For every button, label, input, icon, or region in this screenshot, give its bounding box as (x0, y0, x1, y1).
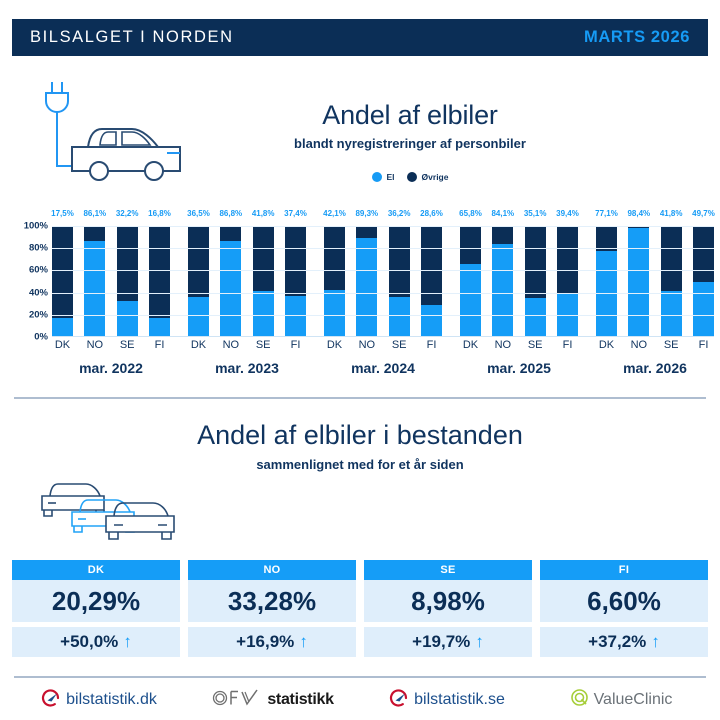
x-axis-country-codes: DKNOSEFI (52, 339, 170, 351)
arrow-up-icon: ↑ (123, 632, 132, 652)
x-axis-tick-se: SE (661, 339, 682, 351)
country-stat-cards: DK20,29%+50,0%↑NO33,28%+16,9%↑SE8,98%+19… (12, 560, 708, 660)
x-axis-group-label: mar. 2025 (460, 360, 578, 376)
bar-stack-el (220, 241, 241, 337)
arrow-up-icon: ↑ (475, 632, 484, 652)
bar-stack-ovrige (596, 226, 617, 337)
bar-stack-el (421, 305, 442, 337)
bar-value-label: 16,8% (148, 209, 171, 218)
stat-card-change: +16,9%↑ (188, 627, 356, 657)
bar-value-label: 36,2% (388, 209, 411, 218)
bar-stack-ovrige (356, 226, 377, 337)
chart-legend: El Øvrige (180, 172, 640, 182)
bar-se[interactable]: 32,2% (117, 226, 138, 337)
bar-stack-el (460, 264, 481, 337)
valueclinic-mark-icon (570, 688, 589, 712)
bar-stack-ovrige (389, 226, 410, 337)
bar-value-label: 84,1% (491, 209, 514, 218)
footer-logo-text: ValueClinic (594, 691, 673, 709)
three-cars-icon (30, 470, 210, 542)
infographic-page: BILSALGET I NORDEN MARTS 2026 Andel af e… (0, 0, 720, 720)
x-axis-tick-se: SE (389, 339, 410, 351)
legend-label-ovrige: Øvrige (422, 172, 449, 182)
stat-card-change-value: +16,9% (236, 632, 294, 652)
bar-se[interactable]: 35,1% (525, 226, 546, 337)
legend-item-el: El (372, 172, 395, 182)
bar-dk[interactable]: 65,8% (460, 226, 481, 337)
x-axis-group-label: mar. 2022 (52, 360, 170, 376)
arrow-up-icon: ↑ (651, 632, 660, 652)
legend-dot-el-icon (372, 172, 382, 182)
bar-dk[interactable]: 17,5% (52, 226, 73, 337)
stat-card-se[interactable]: SE8,98%+19,7%↑ (364, 560, 532, 660)
x-axis-tick-fi: FI (421, 339, 442, 351)
bar-value-label: 98,4% (627, 209, 650, 218)
bar-value-label: 39,4% (556, 209, 579, 218)
stat-card-change-value: +19,7% (412, 632, 470, 652)
bar-stack-el (525, 298, 546, 337)
bar-stack-ovrige (525, 226, 546, 337)
stat-card-change-value: +37,2% (588, 632, 646, 652)
x-axis-tick-se: SE (253, 339, 274, 351)
valueclinic-logo[interactable]: ValueClinic (534, 688, 708, 712)
bar-stack-el (356, 238, 377, 337)
bar-stack-el (596, 251, 617, 337)
y-axis-tick: 20% (6, 309, 48, 320)
bar-value-label: 86,8% (219, 209, 242, 218)
bar-se[interactable]: 36,2% (389, 226, 410, 337)
bar-se[interactable]: 41,8% (253, 226, 274, 337)
y-axis-tick: 60% (6, 265, 48, 276)
x-axis-labels: DKNOSEFImar. 2022DKNOSEFImar. 2023DKNOSE… (52, 339, 714, 385)
chart-group: 36,5%86,8%41,8%37,4% (188, 226, 306, 337)
ofv-statistikk-logo[interactable]: statistikk (186, 689, 360, 712)
x-axis-tick-dk: DK (188, 339, 209, 351)
chart-groups: 17,5%86,1%32,2%16,8%36,5%86,8%41,8%37,4%… (52, 226, 714, 337)
bar-stack-el (628, 228, 649, 337)
bar-value-label: 37,4% (284, 209, 307, 218)
x-axis-country-codes: DKNOSEFI (324, 339, 442, 351)
bar-stack-ovrige (460, 226, 481, 337)
stat-card-change: +37,2%↑ (540, 627, 708, 657)
bar-value-label: 77,1% (595, 209, 618, 218)
x-axis-group: DKNOSEFImar. 2025 (460, 339, 578, 385)
bar-stack-el (324, 290, 345, 337)
page-title: BILSALGET I NORDEN (30, 28, 234, 47)
bar-fi[interactable]: 16,8% (149, 226, 170, 337)
bar-stack-ovrige (220, 226, 241, 337)
arrow-up-icon: ↑ (299, 632, 308, 652)
stat-card-change: +50,0%↑ (12, 627, 180, 657)
bar-value-label: 41,8% (252, 209, 275, 218)
bar-stack-ovrige (52, 226, 73, 337)
bar-fi[interactable]: 28,6% (421, 226, 442, 337)
x-axis-tick-no: NO (492, 339, 513, 351)
bar-stack-el (117, 301, 138, 337)
x-axis-tick-no: NO (628, 339, 649, 351)
bar-stack-ovrige (693, 226, 714, 337)
x-axis-tick-no: NO (84, 339, 105, 351)
bar-stack-el (492, 244, 513, 337)
stat-card-value: 8,98% (364, 580, 532, 622)
footer-divider (14, 676, 706, 678)
bar-stack-ovrige (188, 226, 209, 337)
x-axis-group-label: mar. 2023 (188, 360, 306, 376)
bar-stack-el (188, 297, 209, 338)
x-axis-country-codes: DKNOSEFI (188, 339, 306, 351)
chart-group: 65,8%84,1%35,1%39,4% (460, 226, 578, 337)
bar-stack-ovrige (149, 226, 170, 337)
bilstatistik-se-logo[interactable]: bilstatistik.se (360, 689, 534, 712)
x-axis-group: DKNOSEFImar. 2022 (52, 339, 170, 385)
x-axis-country-codes: DKNOSEFI (596, 339, 714, 351)
footer-logo-text: bilstatistik.dk (66, 691, 157, 709)
stat-card-change-value: +50,0% (60, 632, 118, 652)
x-axis-country-codes: DKNOSEFI (460, 339, 578, 351)
bar-stack-ovrige (557, 226, 578, 337)
x-axis-tick-se: SE (117, 339, 138, 351)
bar-se[interactable]: 41,8% (661, 226, 682, 337)
bilstatistik-dk-logo[interactable]: bilstatistik.dk (12, 689, 186, 712)
x-axis-tick-fi: FI (557, 339, 578, 351)
ev-share-chart: 100%80%60%40%20%0% 17,5%86,1%32,2%16,8%3… (0, 205, 720, 385)
stat-card-value: 33,28% (188, 580, 356, 622)
bar-stack-el (285, 296, 306, 338)
y-axis-labels: 100%80%60%40%20%0% (6, 205, 48, 345)
bar-stack-ovrige (421, 226, 442, 337)
section1-title: Andel af elbiler (180, 100, 640, 131)
stat-card-dk[interactable]: DK20,29%+50,0%↑ (12, 560, 180, 660)
bar-stack-el (84, 241, 105, 337)
x-axis-tick-dk: DK (52, 339, 73, 351)
x-axis-tick-fi: FI (693, 339, 714, 351)
x-axis-tick-dk: DK (324, 339, 345, 351)
x-axis-tick-se: SE (525, 339, 546, 351)
stat-card-value: 20,29% (12, 580, 180, 622)
bar-value-label: 49,7% (692, 209, 715, 218)
x-axis-tick-dk: DK (460, 339, 481, 351)
x-axis-group: DKNOSEFImar. 2026 (596, 339, 714, 385)
section2-title: Andel af elbiler i bestanden (130, 420, 590, 451)
chart-group: 42,1%89,3%36,2%28,6% (324, 226, 442, 337)
bar-no[interactable]: 86,8% (220, 226, 241, 337)
bar-value-label: 32,2% (116, 209, 139, 218)
bar-no[interactable]: 84,1% (492, 226, 513, 337)
x-axis-group-label: mar. 2026 (596, 360, 714, 376)
bar-stack-ovrige (253, 226, 274, 337)
bar-dk[interactable]: 77,1% (596, 226, 617, 337)
chart-gridline (52, 293, 714, 294)
bar-fi[interactable]: 49,7% (693, 226, 714, 337)
bar-stack-ovrige (324, 226, 345, 337)
bar-stack-el (253, 291, 274, 337)
y-axis-tick: 80% (6, 243, 48, 254)
bar-value-label: 89,3% (355, 209, 378, 218)
chart-group: 77,1%98,4%41,8%49,7% (596, 226, 714, 337)
bar-stack-el (149, 318, 170, 337)
bar-stack-el (661, 291, 682, 337)
bar-stack-ovrige (84, 226, 105, 337)
bar-value-label: 65,8% (459, 209, 482, 218)
bar-value-label: 36,5% (187, 209, 210, 218)
bar-no[interactable]: 89,3% (356, 226, 377, 337)
x-axis-group: DKNOSEFImar. 2024 (324, 339, 442, 385)
chart-gridline (52, 270, 714, 271)
chart-plot-area: 17,5%86,1%32,2%16,8%36,5%86,8%41,8%37,4%… (52, 226, 714, 337)
bar-no[interactable]: 98,4% (628, 226, 649, 337)
x-axis-tick-fi: FI (285, 339, 306, 351)
ofv-mark-icon (212, 689, 262, 712)
legend-label-el: El (387, 172, 395, 182)
y-axis-tick: 100% (6, 221, 48, 232)
bar-value-label: 86,1% (83, 209, 106, 218)
stat-card-fi[interactable]: FI6,60%+37,2%↑ (540, 560, 708, 660)
header-date: MARTS 2026 (584, 28, 690, 47)
bar-stack-el (693, 282, 714, 337)
chart-gridline (52, 315, 714, 316)
stat-card-no[interactable]: NO33,28%+16,9%↑ (188, 560, 356, 660)
stat-card-country: SE (364, 560, 532, 580)
stat-card-change: +19,7%↑ (364, 627, 532, 657)
bar-stack-ovrige (117, 226, 138, 337)
bar-stack-ovrige (628, 226, 649, 337)
x-axis-tick-no: NO (356, 339, 377, 351)
chart-baseline (52, 336, 714, 337)
bar-fi[interactable]: 37,4% (285, 226, 306, 337)
y-axis-tick: 40% (6, 287, 48, 298)
chart-gridline (52, 248, 714, 249)
legend-item-ovrige: Øvrige (407, 172, 449, 182)
section1-subtitle: blandt nyregistreringer af personbiler (180, 136, 640, 151)
stat-card-country: NO (188, 560, 356, 580)
bar-value-label: 35,1% (524, 209, 547, 218)
bar-stack-el (52, 318, 73, 337)
chart-gridline (52, 226, 714, 227)
y-axis-tick: 0% (6, 332, 48, 343)
bar-dk[interactable]: 42,1% (324, 226, 345, 337)
ev-car-plug-icon (26, 78, 196, 183)
footer-logos: bilstatistik.dkstatistikkbilstatistik.se… (12, 684, 708, 716)
bar-value-label: 41,8% (660, 209, 683, 218)
bar-stack-ovrige (661, 226, 682, 337)
bar-no[interactable]: 86,1% (84, 226, 105, 337)
chart-group: 17,5%86,1%32,2%16,8% (52, 226, 170, 337)
bilstatistik-mark-icon (41, 689, 61, 712)
section-divider (14, 397, 706, 399)
bilstatistik-mark-icon (389, 689, 409, 712)
footer-logo-text: bilstatistik.se (414, 691, 505, 709)
bar-value-label: 42,1% (323, 209, 346, 218)
x-axis-tick-no: NO (220, 339, 241, 351)
x-axis-group: DKNOSEFImar. 2023 (188, 339, 306, 385)
bar-dk[interactable]: 36,5% (188, 226, 209, 337)
x-axis-group-label: mar. 2024 (324, 360, 442, 376)
footer-logo-text: statistikk (267, 691, 333, 709)
stat-card-country: FI (540, 560, 708, 580)
stat-card-value: 6,60% (540, 580, 708, 622)
bar-stack-el (389, 297, 410, 337)
bar-stack-ovrige (285, 226, 306, 337)
legend-dot-ovrige-icon (407, 172, 417, 182)
x-axis-tick-fi: FI (149, 339, 170, 351)
bar-value-label: 17,5% (51, 209, 74, 218)
stat-card-country: DK (12, 560, 180, 580)
bar-value-label: 28,6% (420, 209, 443, 218)
bar-fi[interactable]: 39,4% (557, 226, 578, 337)
header-bar: BILSALGET I NORDEN MARTS 2026 (12, 19, 708, 56)
bar-stack-ovrige (492, 226, 513, 337)
x-axis-tick-dk: DK (596, 339, 617, 351)
